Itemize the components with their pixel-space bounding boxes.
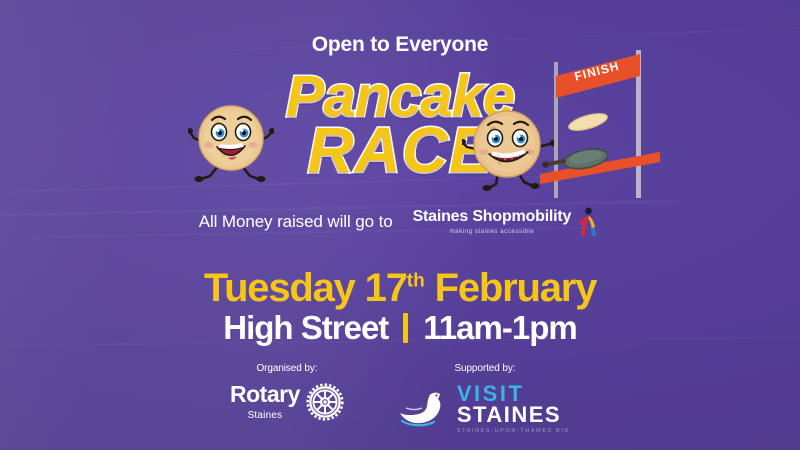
eyebrow-text: Open to Everyone (0, 33, 800, 57)
title-wordmark: Pancake RACE (0, 63, 800, 188)
organiser-label: Organised by: (256, 363, 317, 374)
title-line-race: RACE (0, 113, 800, 187)
visit-word: VISIT (457, 383, 525, 404)
bid-subtitle: STAINES-UPON-THAMES BID (457, 429, 570, 434)
pancake-character-left-icon (188, 96, 274, 184)
rotary-name: Rotary (230, 383, 300, 406)
pancake-character-right-icon (462, 100, 554, 192)
staines-word: STAINES (457, 404, 561, 425)
shopmobility-name: Staines Shopmobility (413, 209, 572, 225)
event-location: High Street (223, 309, 388, 347)
event-date-prefix: Tuesday 17 (204, 266, 407, 310)
shopmobility-logo: Staines Shopmobility making staines acce… (413, 206, 602, 238)
donation-row: All Money raised will go to Staines Shop… (0, 206, 800, 238)
footer: Organised by: Rotary Staines (0, 363, 800, 450)
rotary-sub: Staines (248, 411, 283, 421)
shopmobility-figure-icon (575, 206, 601, 238)
event-date: Tuesday 17th February (0, 266, 800, 311)
event-location-time: High Street 11am-1pm (0, 309, 800, 347)
event-date-ordinal: th (407, 271, 425, 292)
rotary-gear-wheel-icon (306, 383, 344, 421)
supporter-block: Supported by: VISIT STAINES STAINES-UPON… (400, 363, 570, 434)
swan-icon (400, 387, 450, 431)
event-time: 11am-1pm (423, 309, 576, 347)
rotary-logo: Rotary Staines (230, 383, 344, 421)
donation-text: All Money raised will go to (199, 212, 393, 232)
visit-staines-logo: VISIT STAINES STAINES-UPON-THAMES BID (400, 383, 570, 434)
event-date-suffix: February (435, 266, 597, 310)
organiser-block: Organised by: Rotary Staines (230, 363, 344, 421)
shopmobility-tagline: making staines accessible (450, 229, 535, 235)
supporter-label: Supported by: (454, 363, 515, 374)
divider-bar (403, 313, 408, 343)
pancake-race-poster: Open to Everyone FINISH Pancake RACE (0, 0, 800, 450)
